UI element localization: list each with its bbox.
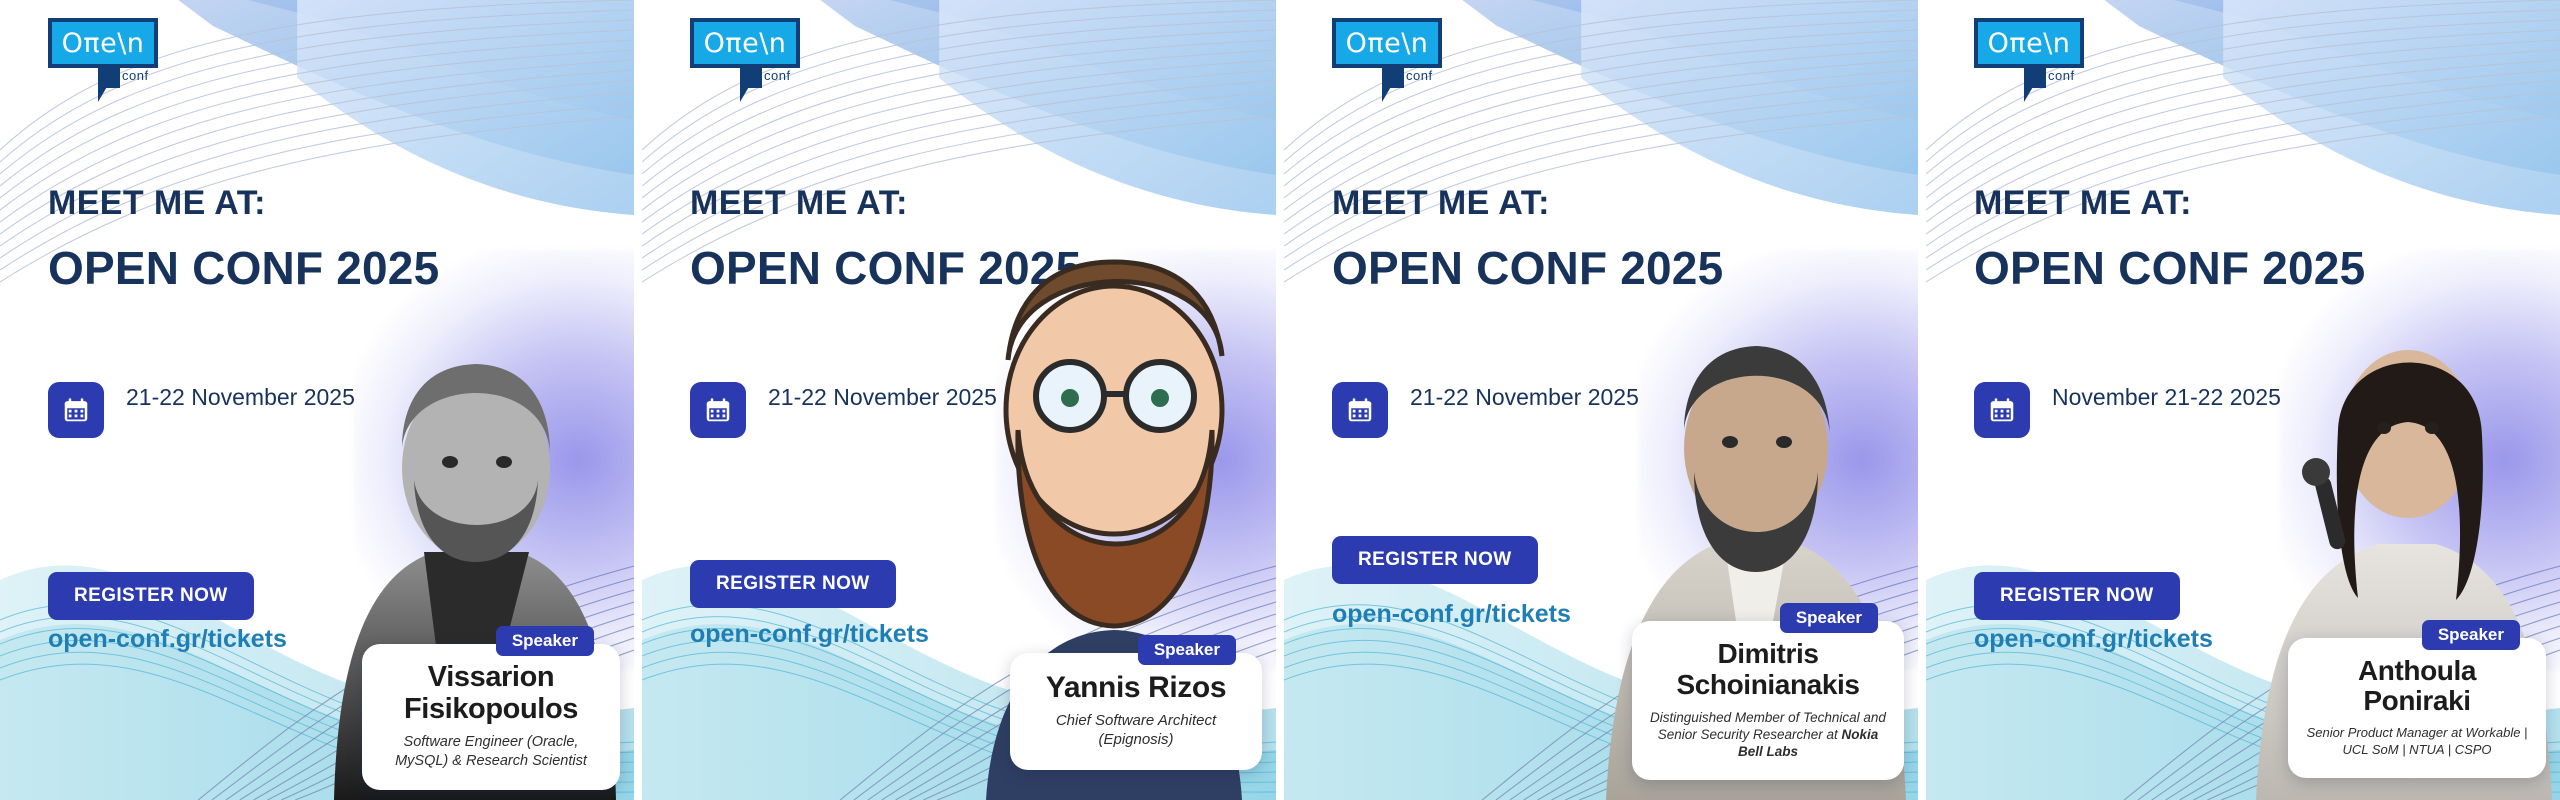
register-now-button[interactable]: REGISTER NOW [48,572,254,620]
status-badge: Speaker [1138,635,1236,665]
speaker-info-card: Speaker Yannis Rizos Chief Software Arch… [1010,653,1262,770]
logo-wordmark: Oπe\n [1346,30,1429,57]
status-badge: Speaker [2422,620,2520,650]
logo-plate: Oπe\n [48,18,158,68]
calendar-icon-glyph [703,395,733,425]
register-now-button[interactable]: REGISTER NOW [1332,536,1538,584]
tickets-link[interactable]: open-conf.gr/tickets [48,625,287,654]
openconf-logo: Oπe\n conf [1332,18,1452,104]
tickets-link[interactable]: open-conf.gr/tickets [1974,625,2213,654]
calendar-icon [1332,382,1388,438]
speaker-name: Vissarion Fisikopoulos [378,662,604,726]
openconf-logo: Oπe\n conf [48,18,168,104]
logo-tail-point [98,68,118,102]
calendar-icon [48,382,104,438]
calendar-icon [1974,382,2030,438]
speaker-info-card: Speaker Dimitris Schoinianakis Distingui… [1632,621,1904,780]
calendar-icon [690,382,746,438]
speaker-title: Chief Software Architect (Epignosis) [1026,712,1246,750]
speaker-promo-card: Oπe\n conf MEET ME AT: OPEN CONF 2025 [1284,0,1918,800]
speaker-promo-card: Oπe\n conf MEET ME AT: OPEN CONF 2025 [1926,0,2560,800]
speaker-promo-card: Oπe\n conf MEET ME AT: OPEN CONF 2025 [642,0,1276,800]
logo-tail-point [740,68,760,102]
logo-plate: Oπe\n [1332,18,1442,68]
speaker-info-card: Speaker Anthoula Poniraki Senior Product… [2288,638,2546,778]
calendar-icon-glyph [1345,395,1375,425]
openconf-logo: Oπe\n conf [690,18,810,104]
register-now-button[interactable]: REGISTER NOW [1974,572,2180,620]
speaker-title: Distinguished Member of Technical and Se… [1648,709,1888,760]
logo-subtext: conf [764,68,791,83]
logo-subtext: conf [2048,68,2075,83]
status-badge: Speaker [1780,603,1878,633]
calendar-icon-glyph [1987,395,2017,425]
speaker-card-gallery: Oπe\n conf MEET ME AT: OPEN CONF 2025 [0,0,2560,800]
speaker-promo-card: Oπe\n conf MEET ME AT: OPEN CONF 2025 [0,0,634,800]
logo-plate: Oπe\n [690,18,800,68]
speaker-title: Software Engineer (Oracle, MySQL) & Rese… [378,733,604,770]
speaker-info-card: Speaker Vissarion Fisikopoulos Software … [362,644,620,790]
logo-plate: Oπe\n [1974,18,2084,68]
speaker-name: Yannis Rizos [1026,671,1246,704]
logo-tail-point [2024,68,2044,102]
logo-tail-point [1382,68,1402,102]
logo-subtext: conf [122,68,149,83]
speaker-title: Senior Product Manager at Workable | UCL… [2304,725,2530,758]
openconf-logo: Oπe\n conf [1974,18,2094,104]
tickets-link[interactable]: open-conf.gr/tickets [1332,600,1571,629]
speaker-name: Anthoula Poniraki [2304,656,2530,718]
logo-wordmark: Oπe\n [704,30,787,57]
status-badge: Speaker [496,626,594,656]
calendar-icon-glyph [61,395,91,425]
tickets-link[interactable]: open-conf.gr/tickets [690,620,929,649]
register-now-button[interactable]: REGISTER NOW [690,560,896,608]
speaker-name: Dimitris Schoinianakis [1648,639,1888,701]
logo-wordmark: Oπe\n [62,30,145,57]
logo-wordmark: Oπe\n [1988,30,2071,57]
logo-subtext: conf [1406,68,1433,83]
